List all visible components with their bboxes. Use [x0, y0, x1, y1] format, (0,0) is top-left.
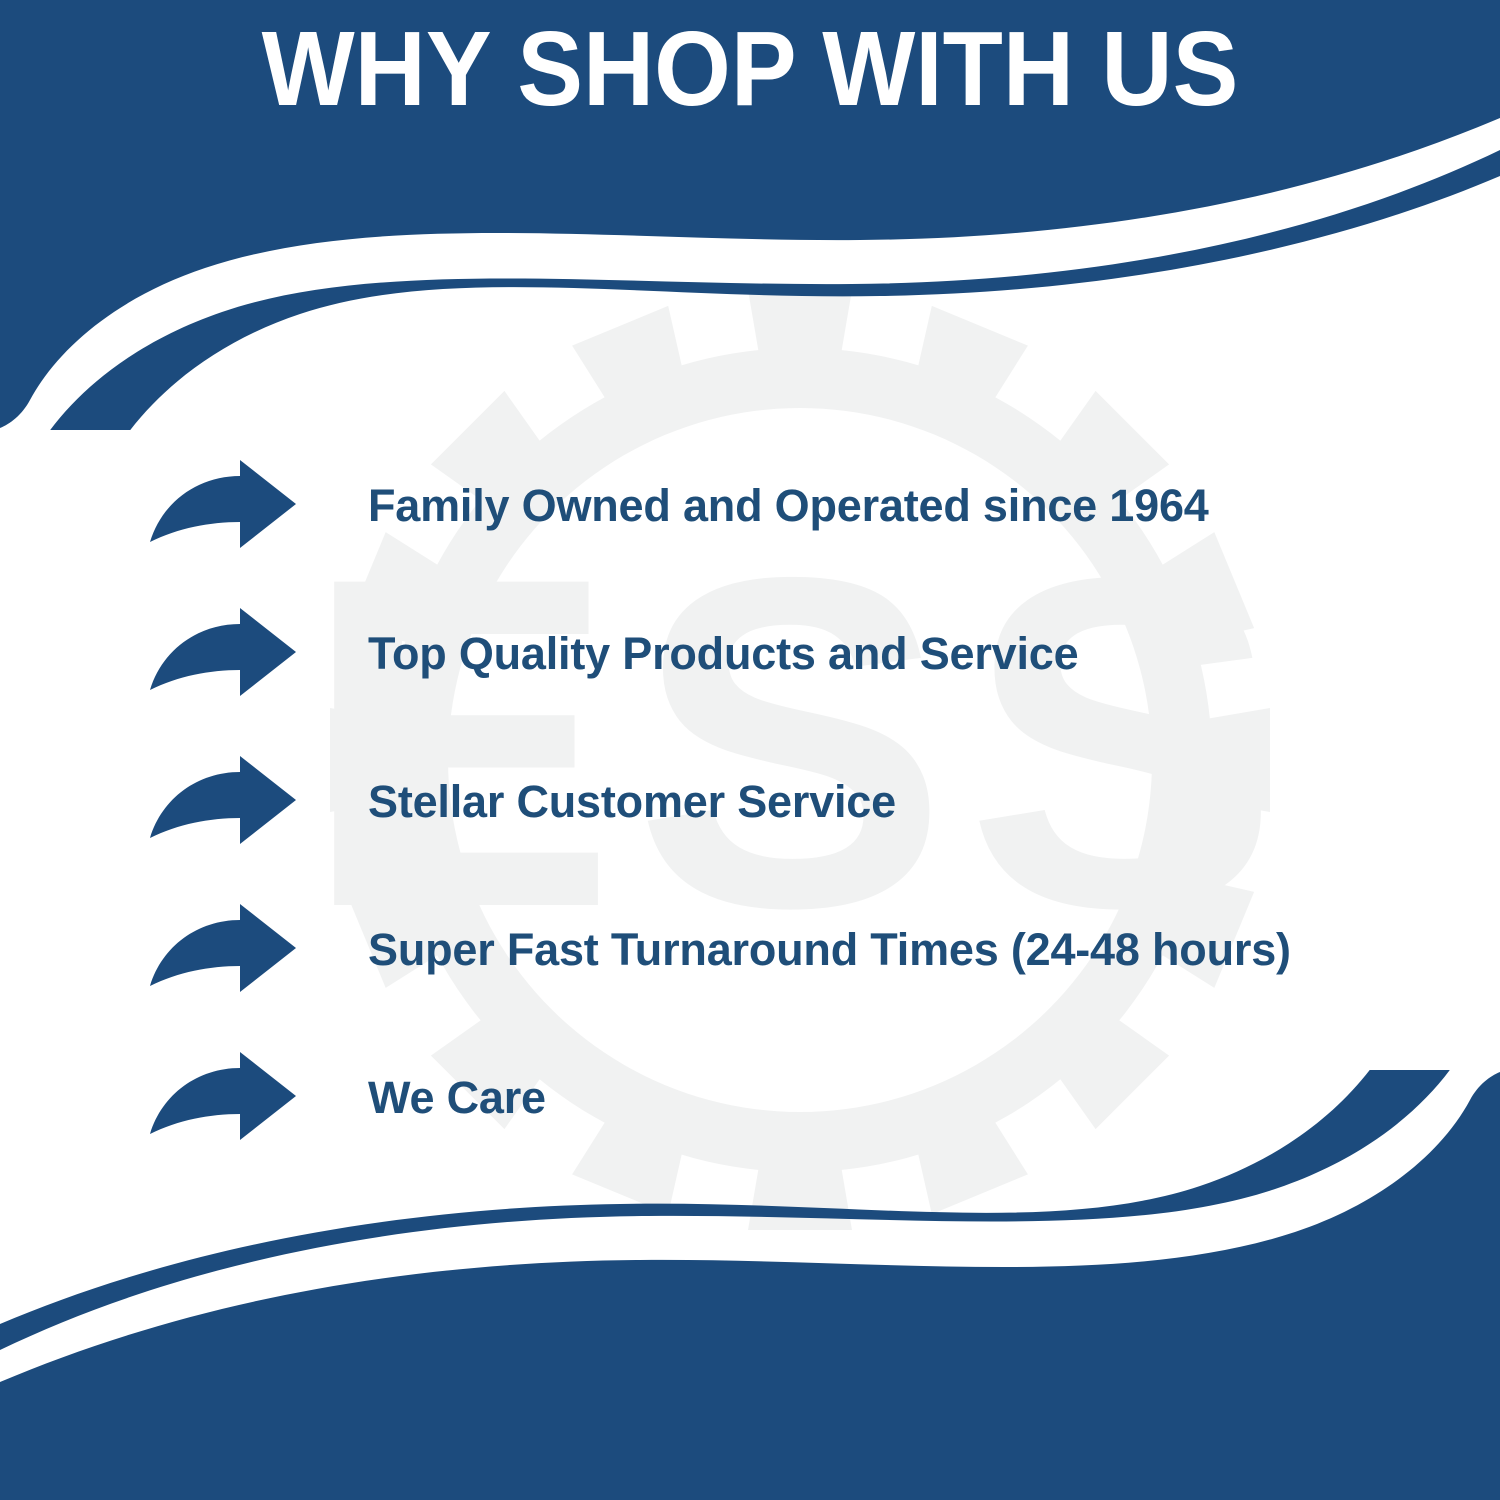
- benefit-label: Top Quality Products and Service: [368, 627, 1078, 681]
- benefit-label: We Care: [368, 1071, 546, 1125]
- benefit-row: Super Fast Turnaround Times (24-48 hours…: [0, 876, 1500, 1024]
- curved-arrow-right-icon: [148, 904, 298, 996]
- curved-arrow-right-icon: [148, 756, 298, 848]
- benefit-row: We Care: [0, 1024, 1500, 1172]
- benefit-row: Family Owned and Operated since 1964: [0, 432, 1500, 580]
- benefit-label: Stellar Customer Service: [368, 775, 896, 829]
- benefit-row: Stellar Customer Service: [0, 728, 1500, 876]
- why-shop-with-us-poster: ESS WHY SHOP WITH US Family Owned and Op…: [0, 0, 1500, 1500]
- benefits-list: Family Owned and Operated since 1964 Top…: [0, 432, 1500, 1172]
- page-title: WHY SHOP WITH US: [53, 14, 1448, 124]
- benefit-label: Super Fast Turnaround Times (24-48 hours…: [368, 923, 1291, 977]
- curved-arrow-right-icon: [148, 460, 298, 552]
- curved-arrow-right-icon: [148, 1052, 298, 1144]
- benefit-label: Family Owned and Operated since 1964: [368, 479, 1209, 533]
- curved-arrow-right-icon: [148, 608, 298, 700]
- benefit-row: Top Quality Products and Service: [0, 580, 1500, 728]
